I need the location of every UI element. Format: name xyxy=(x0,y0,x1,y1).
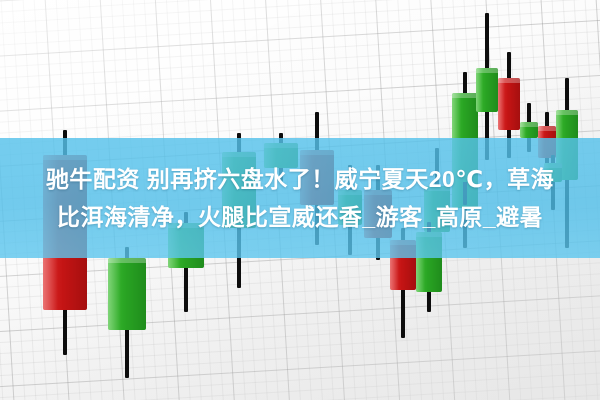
screenshot-root: 驰牛配资 别再挤六盘水了！威宁夏天20℃，草海 比洱海清净，火腿比宣威还香_游客… xyxy=(0,0,600,400)
headline-line-2: 比洱海清净，火腿比宣威还香_游客_高原_避暑 xyxy=(57,198,543,236)
candle-body xyxy=(520,122,538,138)
candle-body xyxy=(108,258,146,330)
candle-body xyxy=(498,78,520,130)
headline-line-1: 驰牛配资 别再挤六盘水了！威宁夏天20℃，草海 xyxy=(46,160,554,198)
candle-1-up xyxy=(108,247,146,378)
candle-body xyxy=(476,68,498,112)
headline-banner: 驰牛配资 别再挤六盘水了！威宁夏天20℃，草海 比洱海清净，火腿比宣威还香_游客… xyxy=(0,138,600,258)
